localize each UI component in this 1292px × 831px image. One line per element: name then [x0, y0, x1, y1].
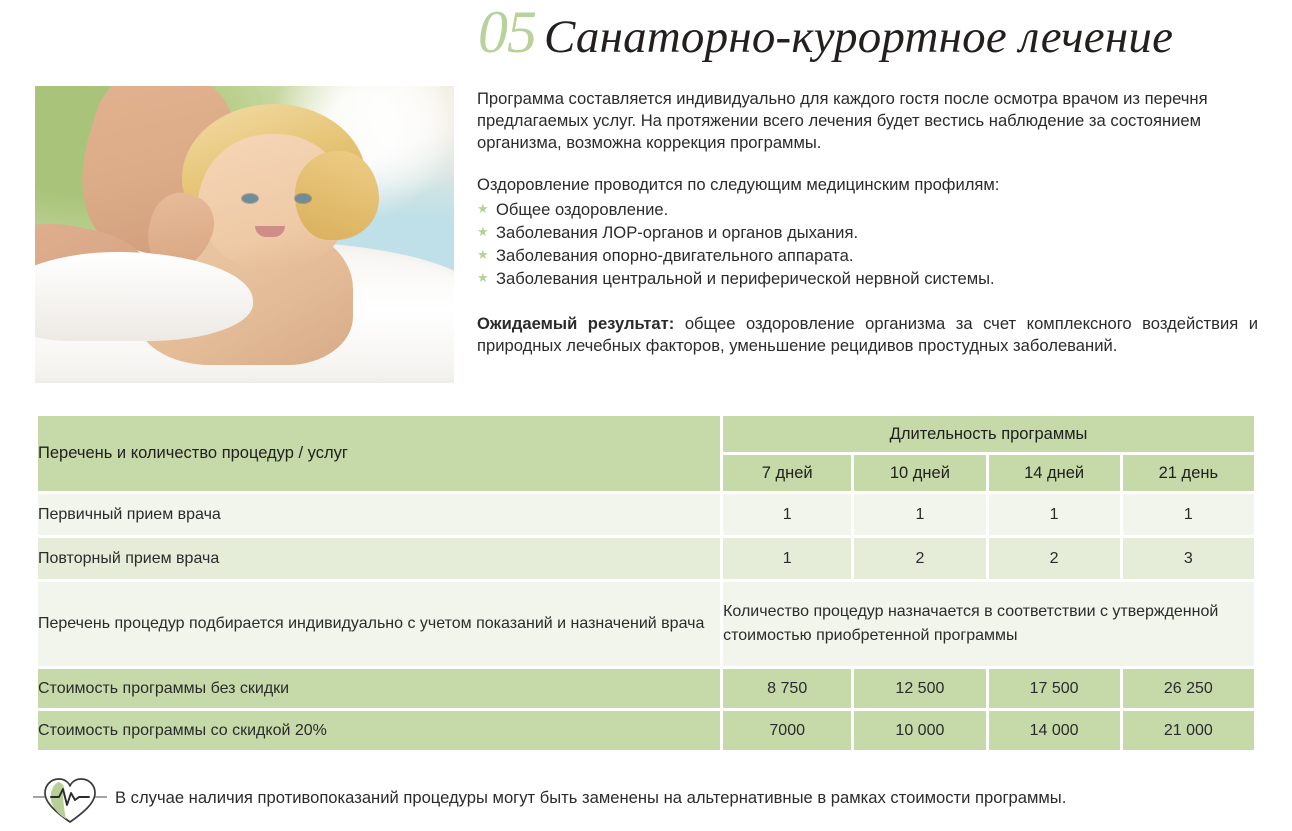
table-row-note: Перечень процедур подбирается индивидуал…	[38, 582, 1254, 666]
header-duration-7: 7 дней	[723, 455, 851, 491]
table-row: Повторный прием врача 1 2 2 3	[38, 538, 1254, 579]
row-label-primary-visit: Первичный прием врача	[38, 494, 720, 535]
cell-price-full-10: 12 500	[854, 669, 985, 708]
program-pricing-table: Перечень и количество процедур / услуг Д…	[35, 413, 1257, 753]
header-duration-21: 21 день	[1123, 455, 1254, 491]
cell-price-discount-7: 7000	[723, 711, 851, 750]
table-row: Стоимость программы без скидки 8 750 12 …	[38, 669, 1254, 708]
star-icon: ★	[477, 246, 489, 264]
list-item: ★ Заболевания центральной и периферическ…	[477, 267, 1258, 290]
list-item-label: Заболевания опорно-двигательного аппарат…	[496, 246, 853, 265]
cell-price-discount-14: 14 000	[989, 711, 1120, 750]
list-item: ★ Заболевания ЛОР-органов и органов дыха…	[477, 221, 1258, 244]
intro-paragraph: Программа составляется индивидуально для…	[477, 88, 1258, 154]
cell-price-full-21: 26 250	[1123, 669, 1254, 708]
page-title: Санаторно-курортное лечение	[544, 14, 1173, 61]
star-icon: ★	[477, 269, 489, 287]
cell-primary-visit-10: 1	[854, 494, 985, 535]
note-left: Перечень процедур подбирается индивидуал…	[38, 582, 720, 666]
cell-primary-visit-7: 1	[723, 494, 851, 535]
page-header: 05 Санаторно-курортное лечение	[478, 2, 1173, 64]
list-item-label: Заболевания центральной и периферической…	[496, 269, 995, 288]
expected-result-paragraph: Ожидаемый результат: общее оздоровление …	[477, 313, 1258, 357]
row-label-price-discount: Стоимость программы со скидкой 20%	[38, 711, 720, 750]
header-services-column: Перечень и количество процедур / услуг	[38, 416, 720, 491]
profiles-list: ★ Общее оздоровление. ★ Заболевания ЛОР-…	[477, 198, 1258, 290]
header-duration-10: 10 дней	[854, 455, 985, 491]
cell-price-discount-21: 21 000	[1123, 711, 1254, 750]
footer-note-text: В случае наличия противопоказаний процед…	[115, 787, 1066, 809]
row-label-price-full: Стоимость программы без скидки	[38, 669, 720, 708]
header-duration-14: 14 дней	[989, 455, 1120, 491]
footer-note: В случае наличия противопоказаний процед…	[33, 769, 1258, 827]
star-icon: ★	[477, 200, 489, 218]
cell-repeat-visit-10: 2	[854, 538, 985, 579]
cell-price-full-14: 17 500	[989, 669, 1120, 708]
cell-price-full-7: 8 750	[723, 669, 851, 708]
list-item-label: Заболевания ЛОР-органов и органов дыхани…	[496, 223, 858, 242]
expected-result-label: Ожидаемый результат:	[477, 314, 674, 333]
table-row: Первичный прием врача 1 1 1 1	[38, 494, 1254, 535]
list-item: ★ Общее оздоровление.	[477, 198, 1258, 221]
cell-repeat-visit-14: 2	[989, 538, 1120, 579]
table-header-row-group: Перечень и количество процедур / услуг Д…	[38, 416, 1254, 452]
cell-primary-visit-21: 1	[1123, 494, 1254, 535]
heart-pulse-leaf-icon	[33, 769, 107, 827]
intro-copy: Программа составляется индивидуально для…	[477, 88, 1258, 357]
table-row: Стоимость программы со скидкой 20% 7000 …	[38, 711, 1254, 750]
cell-primary-visit-14: 1	[989, 494, 1120, 535]
cell-price-discount-10: 10 000	[854, 711, 985, 750]
note-right: Количество процедур назначается в соотве…	[723, 582, 1254, 666]
row-label-repeat-visit: Повторный прием врача	[38, 538, 720, 579]
cell-repeat-visit-21: 3	[1123, 538, 1254, 579]
header-duration-group: Длительность программы	[723, 416, 1254, 452]
child-massage-photo	[35, 86, 454, 383]
section-number: 05	[478, 2, 536, 62]
list-item-label: Общее оздоровление.	[496, 200, 668, 219]
cell-repeat-visit-7: 1	[723, 538, 851, 579]
list-item: ★ Заболевания опорно-двигательного аппар…	[477, 244, 1258, 267]
profiles-intro: Оздоровление проводится по следующим мед…	[477, 174, 1258, 196]
star-icon: ★	[477, 223, 489, 241]
